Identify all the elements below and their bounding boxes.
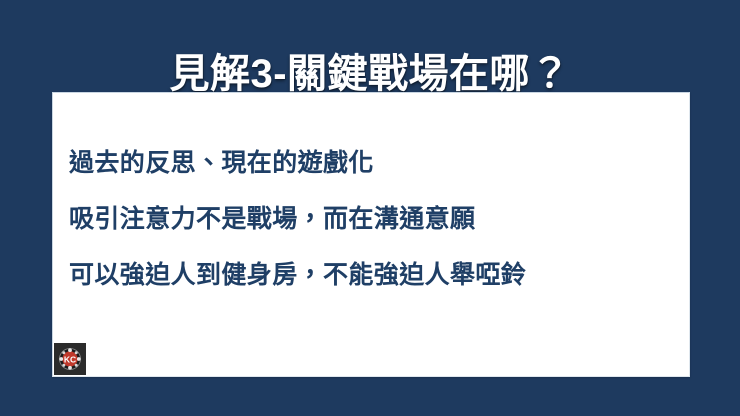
slide-canvas: 見解3-關鍵戰場在哪？ 過去的反思、現在的遊戲化 吸引注意力不是戰場，而在溝通意…	[0, 0, 740, 416]
body-line-2: 吸引注意力不是戰場，而在溝通意願	[69, 204, 679, 234]
svg-text:KC: KC	[64, 354, 76, 364]
body-line-1: 過去的反思、現在的遊戲化	[69, 148, 679, 178]
body-text-block: 過去的反思、現在的遊戲化 吸引注意力不是戰場，而在溝通意願 可以強迫人到健身房，…	[69, 148, 679, 290]
kc-logo-icon: KC	[54, 343, 86, 375]
content-panel: 過去的反思、現在的遊戲化 吸引注意力不是戰場，而在溝通意願 可以強迫人到健身房，…	[52, 92, 690, 377]
body-line-3: 可以強迫人到健身房，不能強迫人舉啞鈴	[69, 260, 679, 290]
